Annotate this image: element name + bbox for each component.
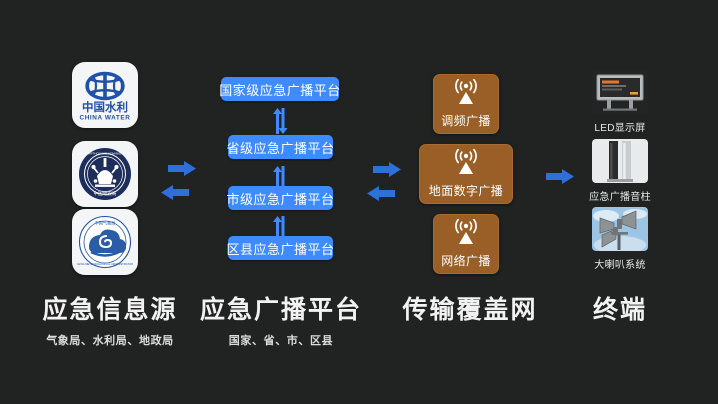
transmission-box-fm-radio[interactable]: 调频广播 bbox=[433, 74, 499, 134]
platform-pill-municipal[interactable]: 市级应急广播平台 bbox=[228, 186, 333, 210]
caption-title: 应急信息源 bbox=[25, 298, 195, 323]
flow-arrow-sources-to-platforms-right bbox=[167, 160, 197, 177]
caption-subtitle: 气象局、水利局、地政局 bbox=[25, 332, 195, 348]
caption-title: 终端 bbox=[560, 298, 680, 323]
caption-title: 应急广播平台 bbox=[196, 298, 366, 323]
caption-terminal: 终端 bbox=[560, 298, 680, 332]
diagram-canvas: 中国水利 CHINA WATER CHINA EARTHQUAKE ADMINI… bbox=[0, 0, 718, 404]
arrow-up-down-icon bbox=[272, 108, 290, 134]
transmission-box-terrestrial-digital-radio[interactable]: 地面数字广播 bbox=[419, 144, 513, 204]
svg-text:CHINA METEOROLOGICAL ADMINISTR: CHINA METEOROLOGICAL ADMINISTRATION bbox=[77, 262, 133, 266]
platform-pill-national[interactable]: 国家级应急广播平台 bbox=[221, 77, 339, 101]
terminal-loudspeaker-system[interactable]: 大喇叭系统 bbox=[591, 207, 649, 271]
china-water-logo-icon: 中国水利 CHINA WATER bbox=[76, 67, 134, 123]
arrow-left-icon bbox=[366, 185, 396, 202]
broadcast-tower-icon bbox=[451, 149, 481, 180]
china-meteorological-administration-seal-icon: 中国气象局 CHINA METEOROLOGICAL ADMINISTRATIO… bbox=[77, 214, 133, 270]
emergency-broadcast-column-speaker-image bbox=[592, 139, 648, 183]
source-logo-china-water[interactable]: 中国水利 CHINA WATER bbox=[72, 62, 138, 128]
platform-pill-provincial[interactable]: 省级应急广播平台 bbox=[228, 135, 333, 159]
transmission-label: 地面数字广播 bbox=[429, 182, 503, 199]
svg-text:中国地震局: 中国地震局 bbox=[94, 190, 117, 197]
china-earthquake-administration-seal-icon: CHINA EARTHQUAKE ADMINISTRATION 中国地震局 bbox=[77, 146, 133, 202]
svg-text:中国气象局: 中国气象局 bbox=[95, 220, 116, 227]
terminal-label: LED显示屏 bbox=[594, 119, 645, 134]
flow-arrow-transmission-to-terminals-right bbox=[545, 168, 575, 185]
transmission-label: 网络广播 bbox=[441, 252, 491, 269]
terminal-led-display[interactable]: LED显示屏 bbox=[591, 70, 649, 134]
broadcast-tower-icon bbox=[451, 219, 481, 250]
flow-arrow-platforms-to-transmission-left bbox=[366, 185, 396, 202]
arrow-right-icon bbox=[545, 168, 575, 185]
source-logo-china-meteorological-administration[interactable]: 中国气象局 CHINA METEOROLOGICAL ADMINISTRATIO… bbox=[72, 209, 138, 275]
svg-text:中国水利: 中国水利 bbox=[82, 100, 128, 114]
caption-subtitle: 国家、省、市、区县 bbox=[196, 332, 366, 348]
caption-transmission-coverage-network: 传输覆盖网 bbox=[385, 298, 555, 332]
terminal-label: 应急广播音柱 bbox=[589, 188, 651, 203]
flow-arrow-sources-to-platforms-left bbox=[160, 184, 190, 201]
loudspeaker-horn-system-image bbox=[592, 207, 648, 251]
transmission-box-network-radio[interactable]: 网络广播 bbox=[433, 214, 499, 274]
arrow-left-icon bbox=[160, 184, 190, 201]
flow-arrow-platforms-to-transmission-right bbox=[372, 161, 402, 178]
caption-title: 传输覆盖网 bbox=[385, 298, 555, 323]
svg-text:CHINA EARTHQUAKE ADMINISTRATIO: CHINA EARTHQUAKE ADMINISTRATION bbox=[77, 152, 133, 156]
terminal-broadcast-column-speaker[interactable]: 应急广播音柱 bbox=[591, 139, 649, 203]
source-logo-china-earthquake-administration[interactable]: CHINA EARTHQUAKE ADMINISTRATION 中国地震局 bbox=[72, 141, 138, 207]
terminal-label: 大喇叭系统 bbox=[594, 256, 646, 271]
led-display-screen-image bbox=[592, 70, 648, 114]
svg-text:CHINA WATER: CHINA WATER bbox=[80, 115, 131, 122]
transmission-label: 调频广播 bbox=[441, 112, 491, 129]
arrow-right-icon bbox=[372, 161, 402, 178]
bidirectional-arrow-national-provincial bbox=[272, 108, 290, 134]
broadcast-tower-icon bbox=[451, 79, 481, 110]
platform-pill-district[interactable]: 区县应急广播平台 bbox=[228, 236, 333, 260]
arrow-right-icon bbox=[167, 160, 197, 177]
caption-emergency-information-source: 应急信息源 气象局、水利局、地政局 bbox=[25, 298, 195, 348]
caption-emergency-broadcast-platform: 应急广播平台 国家、省、市、区县 bbox=[196, 298, 366, 348]
